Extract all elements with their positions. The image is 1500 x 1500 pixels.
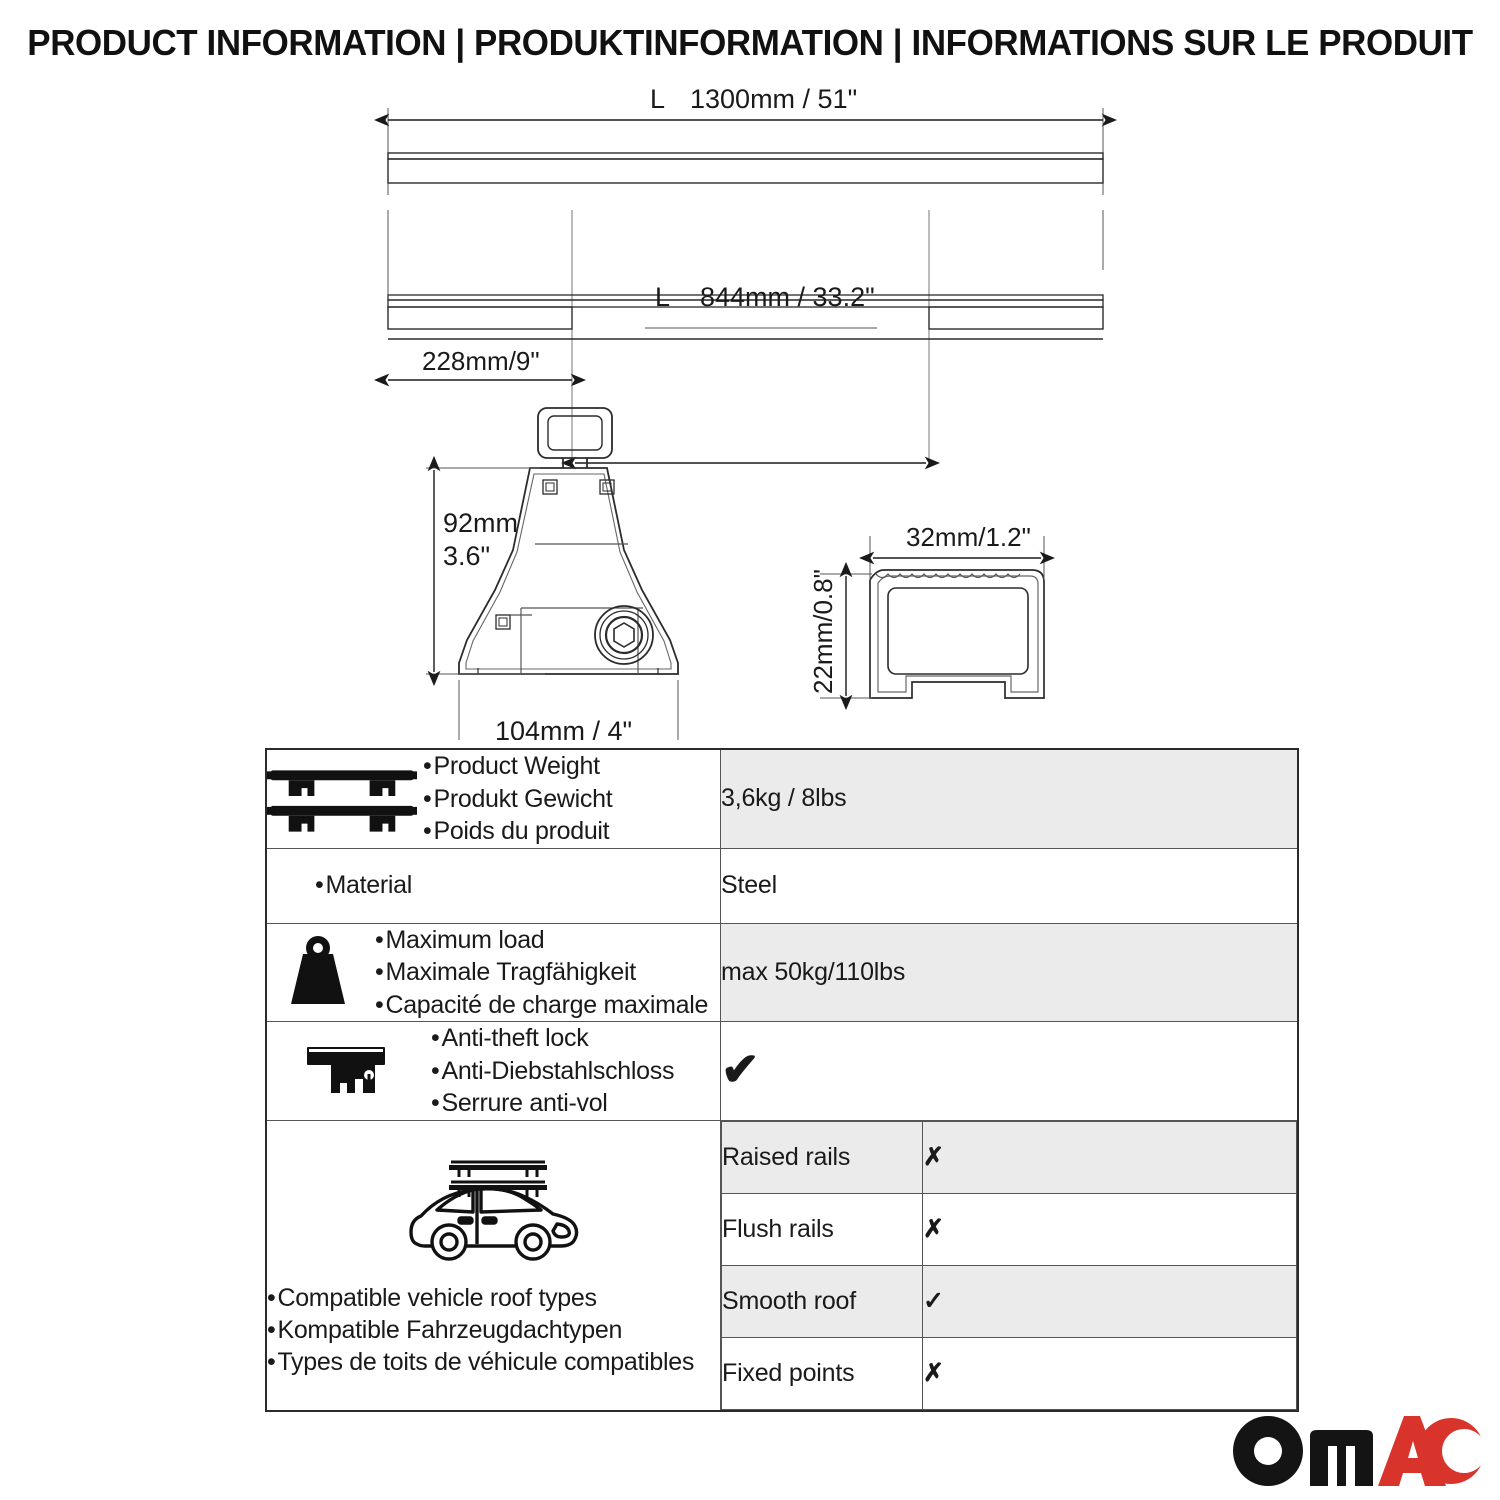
spec-label-list: Anti-theft lock Anti-Diebstahlschloss Se… — [431, 1022, 720, 1120]
dim-profile-height: 22mm/0.8" — [808, 569, 838, 694]
roof-label-fr: Types de toits de véhicule compatibles — [267, 1346, 720, 1378]
foot-front-view — [459, 408, 678, 674]
dim-span-value: 844mm / 33.2" — [700, 282, 875, 312]
spec-value-material: Steel — [721, 848, 1299, 923]
roof-type-row: Fixed points ✗ — [722, 1337, 1297, 1409]
spec-value-max-load: max 50kg/110lbs — [721, 923, 1299, 1022]
roof-types-label-list: Compatible vehicle roof types Kompatible… — [267, 1282, 720, 1378]
dim-profile-width: 32mm/1.2" — [906, 522, 1031, 552]
roof-type-name: Fixed points — [722, 1337, 923, 1409]
product-spec-table: Product Weight Produkt Gewicht Poids du … — [265, 748, 1299, 1412]
spec-label-en: Anti-theft lock — [431, 1022, 720, 1055]
page-title: PRODUCT INFORMATION | PRODUKTINFORMATION… — [23, 22, 1478, 64]
table-row: Material Steel — [266, 848, 1298, 923]
roof-types-label-cell: Compatible vehicle roof types Kompatible… — [266, 1120, 721, 1411]
table-row: Compatible vehicle roof types Kompatible… — [266, 1120, 1298, 1411]
dim-span-prefix: L — [655, 282, 670, 312]
spec-label-en: Product Weight — [423, 750, 720, 783]
roof-type-mark-check: ✓ — [923, 1265, 1297, 1337]
roof-type-name: Flush rails — [722, 1193, 923, 1265]
roof-type-row: Raised rails ✗ — [722, 1121, 1297, 1193]
spec-label-fr: Capacité de charge maximale — [375, 989, 720, 1022]
check-icon: ✔ — [721, 1043, 759, 1095]
dim-foot-height-line1: 92mm — [443, 508, 518, 538]
logo-letter-m — [1310, 1430, 1373, 1486]
lock-icon — [267, 1039, 425, 1103]
car-with-rack-icon — [267, 1152, 720, 1270]
table-row: Product Weight Produkt Gewicht Poids du … — [266, 749, 1298, 848]
rail-profile-section — [870, 570, 1044, 698]
roof-type-row: Flush rails ✗ — [722, 1193, 1297, 1265]
spec-label-fr: Serrure anti-vol — [431, 1087, 720, 1120]
spec-label-list: Maximum load Maximale Tragfähigkeit Capa… — [375, 924, 720, 1022]
spec-label-de: Produkt Gewicht — [423, 783, 720, 816]
weight-icon — [267, 936, 369, 1008]
dim-foot-offset: 228mm/9" — [422, 346, 540, 376]
spec-label-de: Maximale Tragfähigkeit — [375, 956, 720, 989]
spec-label-cell: Maximum load Maximale Tragfähigkeit Capa… — [266, 923, 721, 1022]
spec-label-cell: Anti-theft lock Anti-Diebstahlschloss Se… — [266, 1022, 721, 1121]
dim-bar-length-value: 1300mm / 51" — [690, 84, 857, 114]
roof-type-name: Raised rails — [722, 1121, 923, 1193]
dim-foot-width: 104mm / 4" — [495, 716, 632, 740]
table-row: Maximum load Maximale Tragfähigkeit Capa… — [266, 923, 1298, 1022]
spec-value-anti-theft-lock: ✔ — [721, 1022, 1299, 1121]
crossbars-icon — [267, 764, 417, 834]
spec-label-list: Product Weight Produkt Gewicht Poids du … — [423, 750, 720, 848]
roof-types-table: Raised rails ✗ Flush rails ✗ Smooth roof… — [721, 1121, 1297, 1410]
roof-type-mark-cross: ✗ — [923, 1193, 1297, 1265]
roof-type-mark-cross: ✗ — [923, 1121, 1297, 1193]
dim-bar-length-prefix: L — [650, 84, 665, 114]
table-row: Anti-theft lock Anti-Diebstahlschloss Se… — [266, 1022, 1298, 1121]
roof-type-name: Smooth roof — [722, 1265, 923, 1337]
roof-types-value-cell: Raised rails ✗ Flush rails ✗ Smooth roof… — [721, 1120, 1299, 1411]
dim-foot-height-line2: 3.6" — [443, 541, 490, 571]
spec-label-list: Material — [315, 869, 720, 902]
roof-label-de: Kompatible Fahrzeugdachtypen — [267, 1314, 720, 1346]
spec-label-material: Material — [315, 869, 720, 902]
spec-value-product-weight: 3,6kg / 8lbs — [721, 749, 1299, 848]
omac-logo — [1232, 1414, 1482, 1488]
roof-type-mark-cross: ✗ — [923, 1337, 1297, 1409]
logo-letter-o — [1233, 1416, 1303, 1486]
roof-label-en: Compatible vehicle roof types — [267, 1282, 720, 1314]
roof-type-row: Smooth roof ✓ — [722, 1265, 1297, 1337]
spec-label-cell: Product Weight Produkt Gewicht Poids du … — [266, 749, 721, 848]
spec-label-cell: Material — [266, 848, 721, 923]
spec-label-de: Anti-Diebstahlschloss — [431, 1055, 720, 1088]
spec-label-fr: Poids du produit — [423, 815, 720, 848]
technical-drawing: L 1300mm / 51" 228mm/9" L 844mm / 33.2" — [0, 80, 1500, 740]
spec-label-en: Maximum load — [375, 924, 720, 957]
